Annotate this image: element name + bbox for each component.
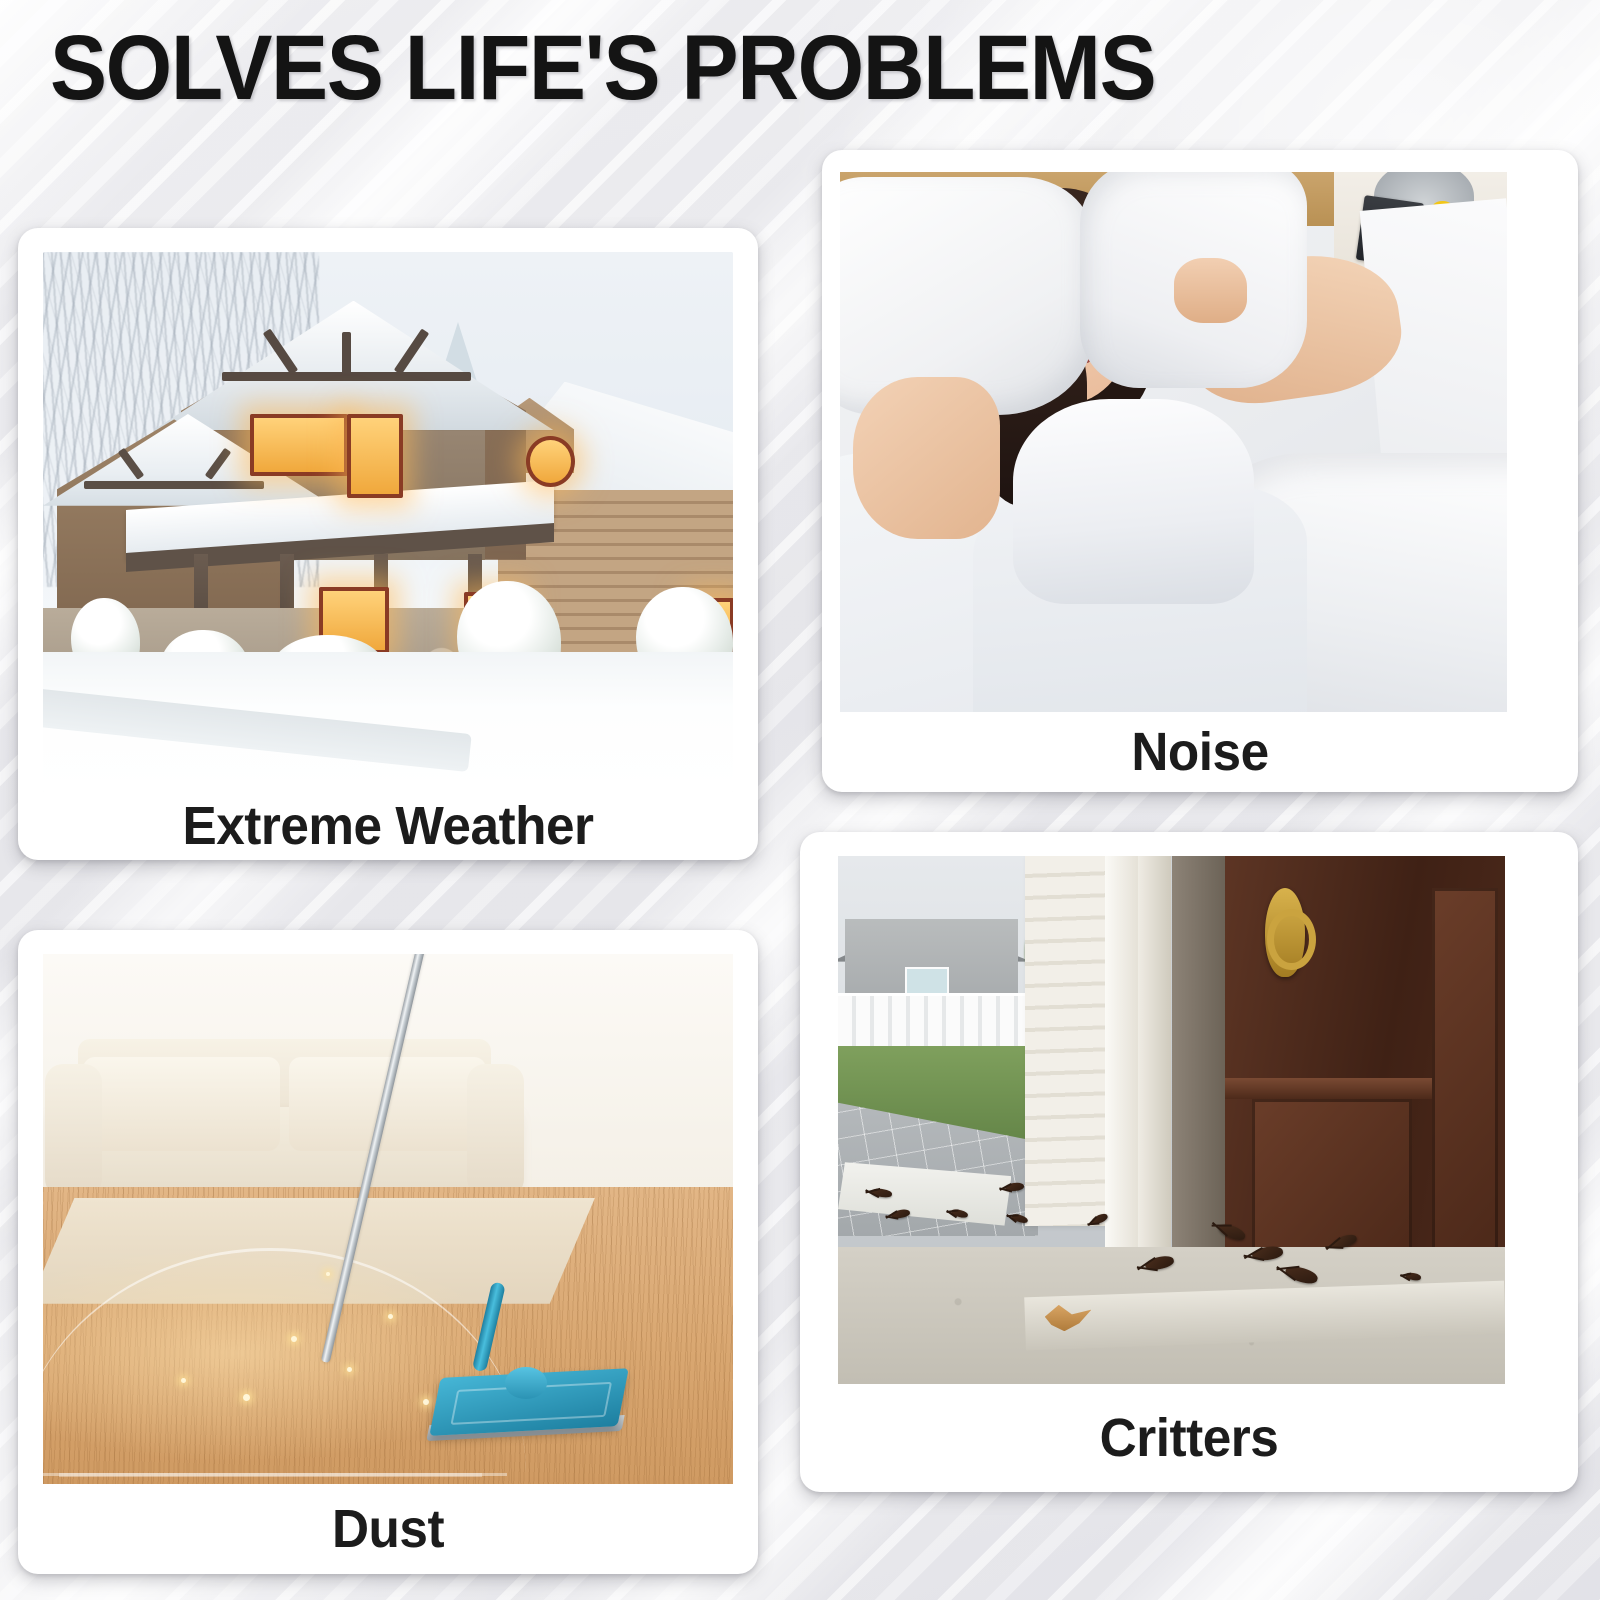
extreme-weather-photo — [43, 252, 733, 792]
lit-window — [526, 436, 575, 487]
card-label-critters: Critters — [819, 1384, 1558, 1492]
feature-card-noise[interactable]: Noise — [822, 150, 1578, 792]
feature-card-extreme-weather[interactable]: Extreme Weather — [18, 228, 758, 860]
page-title: SOLVES LIFE'S PROBLEMS — [50, 22, 1155, 114]
door-panel — [1432, 888, 1499, 1289]
card-label-extreme-weather: Extreme Weather — [37, 792, 740, 860]
feature-card-critters[interactable]: Critters — [800, 832, 1578, 1492]
card-label-noise: Noise — [841, 712, 1559, 792]
door-reveal-shadow — [1172, 856, 1225, 1268]
sparkle-icon — [326, 1272, 330, 1276]
hand — [1174, 258, 1247, 323]
door-knocker-ring — [1267, 909, 1316, 971]
sofa-arm — [467, 1064, 523, 1197]
timber-truss — [84, 446, 263, 505]
house-siding — [1025, 856, 1112, 1226]
dust-photo — [43, 954, 733, 1484]
left-arm — [853, 377, 1000, 539]
sofa-cushion — [83, 1057, 280, 1151]
card-label-dust: Dust — [37, 1484, 740, 1574]
mop-swivel-hub — [505, 1367, 546, 1399]
tank-top — [1013, 399, 1253, 604]
noise-photo — [840, 172, 1507, 712]
timber-truss — [222, 328, 470, 409]
lit-window — [347, 414, 403, 498]
sofa-arm — [45, 1064, 101, 1197]
sparkle-icon — [423, 1399, 429, 1405]
sparkle-icon — [243, 1394, 250, 1401]
sparkle-icon — [181, 1378, 186, 1383]
door-jamb — [1138, 856, 1171, 1257]
door-jamb — [1105, 856, 1138, 1257]
critters-photo — [838, 856, 1505, 1384]
door-rail — [1225, 1078, 1438, 1099]
lit-window — [250, 414, 348, 476]
feature-card-dust[interactable]: Dust — [18, 930, 758, 1574]
